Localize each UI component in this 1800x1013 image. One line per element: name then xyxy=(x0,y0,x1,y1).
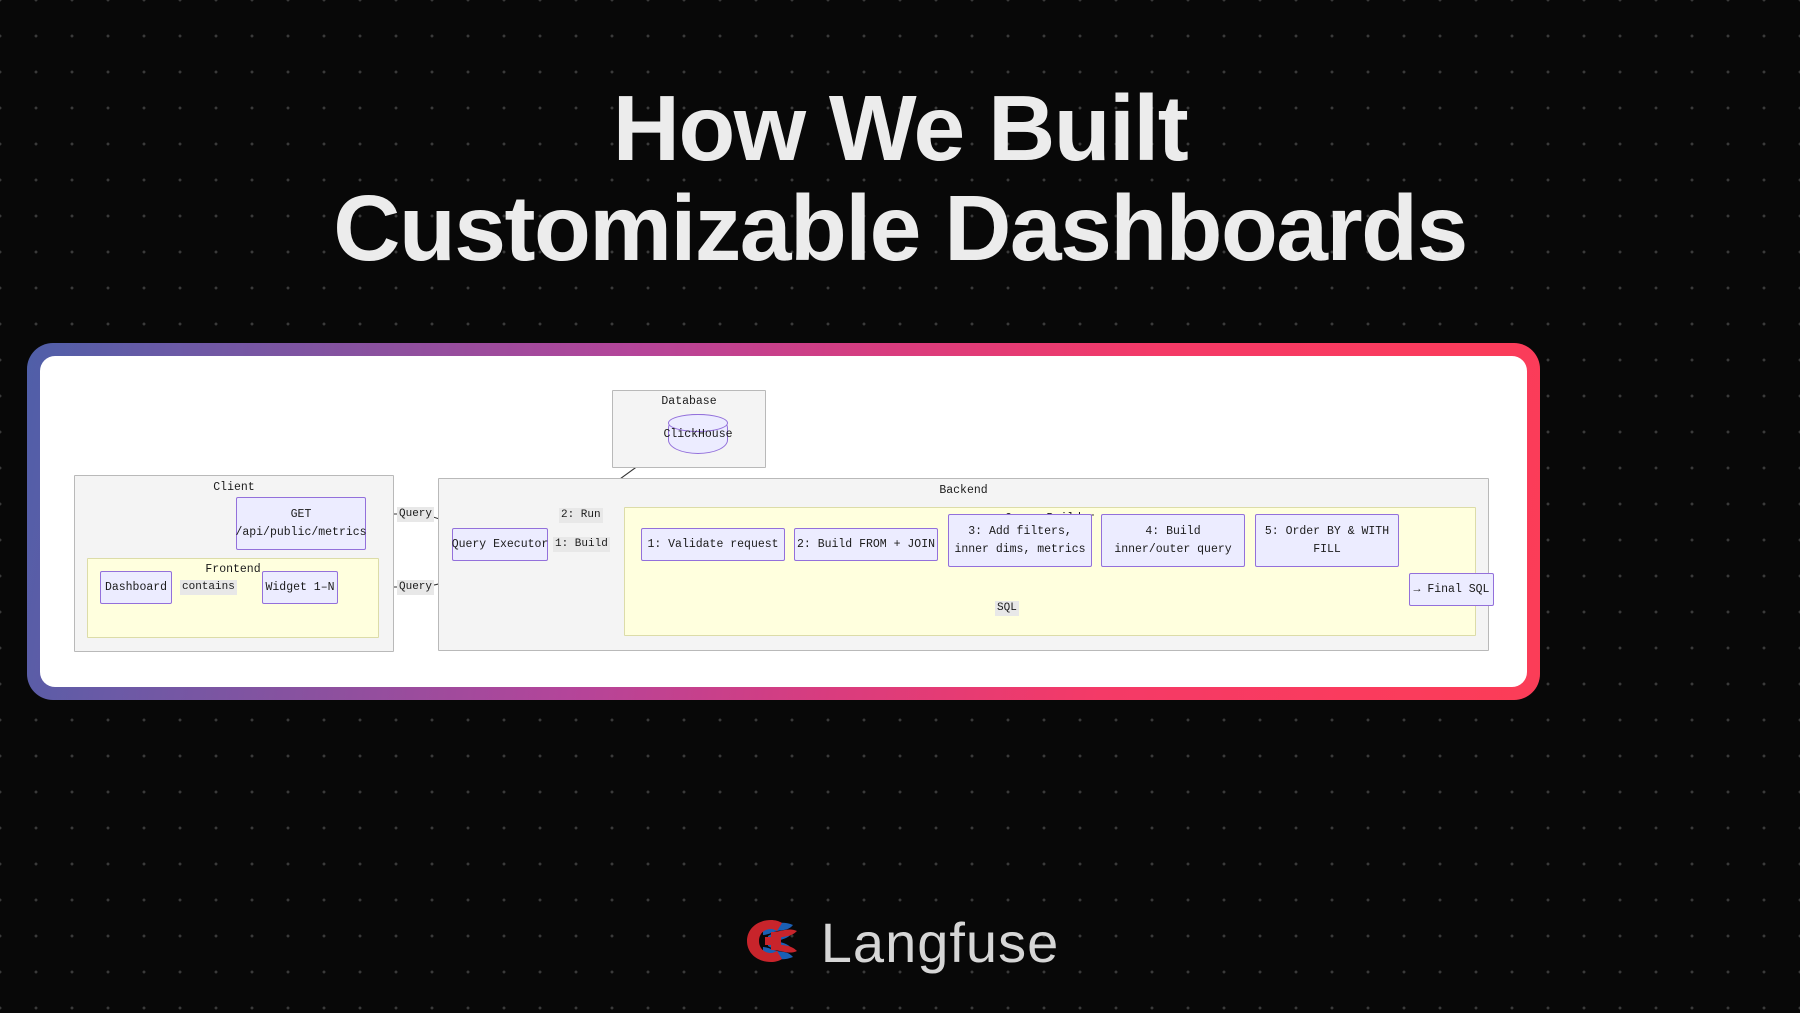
node-clickhouse-label: ClickHouse xyxy=(664,428,733,441)
node-step-3-add-filters: 3: Add filters, inner dims, metrics xyxy=(948,514,1092,567)
edge-label-sql: SQL xyxy=(995,601,1019,616)
edge-label-query-bottom: Query xyxy=(397,580,434,595)
node-api-line-1: GET xyxy=(291,506,312,524)
title-line-2: Customizable Dashboards xyxy=(0,178,1800,278)
node-query-executor-label: Query Executor xyxy=(452,536,549,554)
node-dashboard-label: Dashboard xyxy=(105,579,167,597)
architecture-diagram: Client GET /api/public/metrics Frontend … xyxy=(40,356,1527,687)
diagram-card: Client GET /api/public/metrics Frontend … xyxy=(40,356,1527,687)
edge-label-2-run: 2: Run xyxy=(559,508,603,523)
langfuse-mark-svg xyxy=(741,918,799,964)
node-step-3-line-1: 3: Add filters, xyxy=(968,523,1072,541)
subgraph-client-label: Client xyxy=(74,481,394,494)
node-step-5-line-2: FILL xyxy=(1313,541,1341,559)
poster-root: How We Built Customizable Dashboards xyxy=(0,0,1800,1013)
node-final-sql: → Final SQL xyxy=(1409,573,1494,606)
gradient-card-frame: Client GET /api/public/metrics Frontend … xyxy=(27,343,1540,700)
node-step-2-build-from-join: 2: Build FROM + JOIN xyxy=(794,528,938,561)
brand-name: Langfuse xyxy=(821,915,1059,971)
footer-brand: Langfuse xyxy=(0,915,1800,971)
node-step-4-line-2: inner/outer query xyxy=(1114,541,1231,559)
subgraph-database-label: Database xyxy=(612,395,766,408)
node-api-line-2: /api/public/metrics xyxy=(235,524,366,542)
node-api-endpoint: GET /api/public/metrics xyxy=(236,497,366,550)
node-final-sql-label: → Final SQL xyxy=(1414,581,1490,599)
node-step-1-validate: 1: Validate request xyxy=(641,528,785,561)
node-dashboard: Dashboard xyxy=(100,571,172,604)
subgraph-backend-label: Backend xyxy=(438,484,1489,497)
node-step-1-label: 1: Validate request xyxy=(647,536,778,554)
page-title: How We Built Customizable Dashboards xyxy=(0,78,1800,279)
edge-label-query-top: Query xyxy=(397,507,434,522)
node-query-executor: Query Executor xyxy=(452,528,548,561)
title-line-1: How We Built xyxy=(0,78,1800,178)
node-clickhouse: ClickHouse xyxy=(668,414,728,454)
node-step-5-line-1: 5: Order BY & WITH xyxy=(1265,523,1389,541)
edge-label-contains: contains xyxy=(180,580,237,595)
node-step-5-order-by-fill: 5: Order BY & WITH FILL xyxy=(1255,514,1399,567)
node-widget: Widget 1–N xyxy=(262,571,338,604)
node-step-3-line-2: inner dims, metrics xyxy=(954,541,1085,559)
node-step-4-build-query: 4: Build inner/outer query xyxy=(1101,514,1245,567)
node-step-2-label: 2: Build FROM + JOIN xyxy=(797,536,935,554)
node-step-4-line-1: 4: Build xyxy=(1145,523,1200,541)
edge-label-1-build: 1: Build xyxy=(553,537,610,552)
node-widget-label: Widget 1–N xyxy=(265,579,334,597)
langfuse-logo-icon xyxy=(741,918,799,969)
